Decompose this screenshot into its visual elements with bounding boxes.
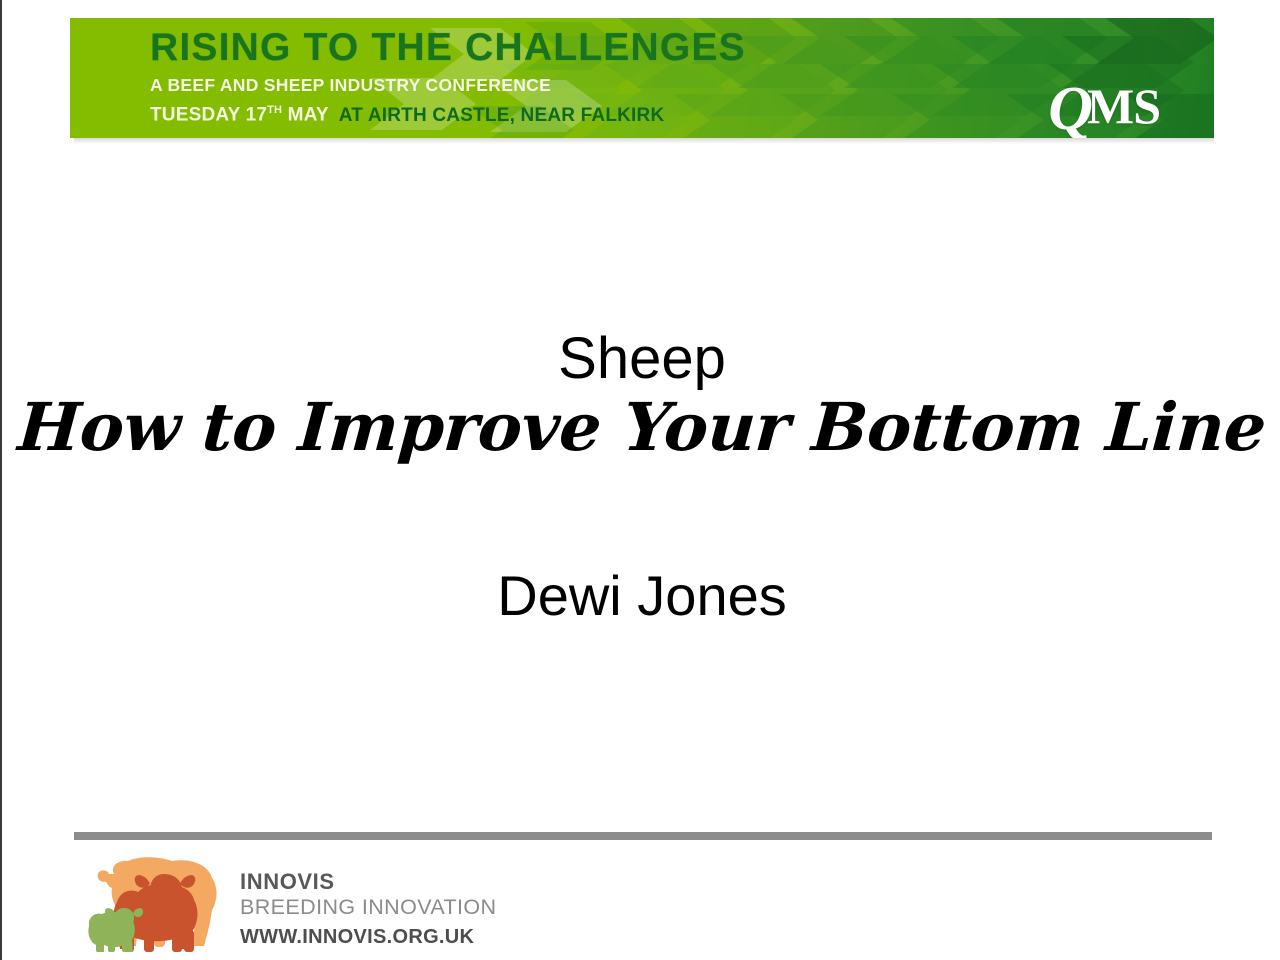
- slide-title: Sheep How to Improve Your Bottom Line: [2, 328, 1280, 467]
- banner-venue: AT AIRTH CASTLE, NEAR FALKIRK: [339, 105, 665, 126]
- presenter-name: Dewi Jones: [2, 565, 1280, 627]
- footer-divider: [74, 832, 1212, 840]
- banner-headline: RISING TO THE CHALLENGES: [150, 28, 746, 69]
- banner-date-prefix: TUESDAY 17: [150, 105, 267, 126]
- title-line-subtitle: How to Improve Your Bottom Line: [0, 389, 1280, 467]
- banner-subtitle: A BEEF AND SHEEP INDUSTRY CONFERENCE: [150, 76, 746, 94]
- innovis-website-url: WWW.INNOVIS.ORG.UK: [240, 926, 540, 949]
- banner-date-ordinal: TH: [267, 104, 282, 116]
- innovis-wordmark: INNOVIS BREEDING INNOVATION WWW.INNOVIS.…: [240, 870, 540, 949]
- banner-text-block: RISING TO THE CHALLENGES A BEEF AND SHEE…: [150, 28, 746, 126]
- qms-logo: QMS: [1048, 72, 1160, 134]
- conference-banner: RISING TO THE CHALLENGES A BEEF AND SHEE…: [70, 18, 1214, 138]
- title-line-sheep: Sheep: [2, 328, 1280, 389]
- banner-date-venue: TUESDAY 17TH MAYAT AIRTH CASTLE, NEAR FA…: [150, 105, 746, 125]
- innovis-brand-name: INNOVIS: [240, 870, 540, 895]
- qms-logo-q: Q: [1048, 78, 1087, 138]
- innovis-tagline: BREEDING INNOVATION: [240, 895, 540, 920]
- banner-date-month: MAY: [282, 105, 329, 126]
- sheep-mark-icon: [80, 852, 232, 952]
- innovis-logo: INNOVIS BREEDING INNOVATION WWW.INNOVIS.…: [80, 852, 500, 952]
- banner-drop-shadow: [74, 138, 1214, 144]
- qms-logo-ms: MS: [1087, 78, 1160, 134]
- presentation-slide: RISING TO THE CHALLENGES A BEEF AND SHEE…: [0, 0, 1280, 960]
